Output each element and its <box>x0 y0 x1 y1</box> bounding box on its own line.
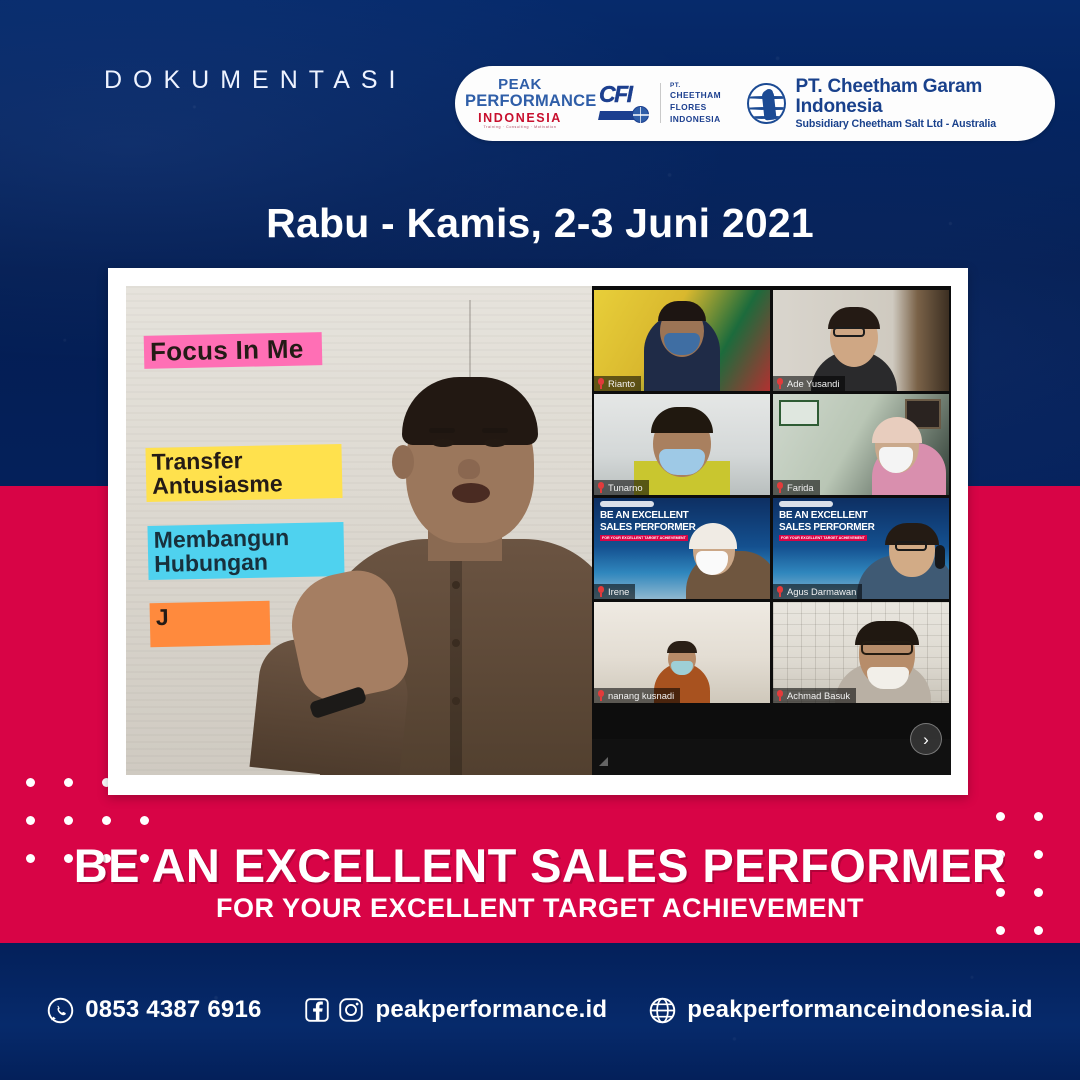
footer-website: peakperformanceindonesia.id <box>687 996 1033 1024</box>
poster-canvas: DOKUMENTASI PEAK PERFORMANCE INDONESIA T… <box>0 0 1080 1080</box>
participant-name: Tunarno <box>608 482 643 493</box>
sub-headline: FOR YOUR EXCELLENT TARGET ACHIEVEMENT <box>0 893 1080 924</box>
logo-bar: PEAK PERFORMANCE INDONESIA Training · Co… <box>455 66 1055 141</box>
muted-mic-icon <box>776 378 784 389</box>
zoom-meeting-screenshot: Focus In Me Transfer Antusiasme Membangu… <box>126 286 951 775</box>
footer-website-item[interactable]: peakperformanceindonesia.id <box>649 996 1033 1024</box>
cfi-logo: CFI PT. CHEETHAM FLORES INDONESIA <box>599 81 721 126</box>
cheetham-text-block: PT. Cheetham Garam Indonesia Subsidiary … <box>796 77 1055 130</box>
peak-logo-line2: PERFORMANCE <box>465 93 575 110</box>
slide-overlay-line3: FOR YOUR EXCELLENT TARGET ACHIEVEMENT <box>779 535 867 541</box>
decorative-dot <box>140 816 149 825</box>
participant-hair <box>667 641 697 653</box>
decorative-dot <box>26 778 35 787</box>
shirt-button <box>452 639 460 647</box>
sticky-note-orange: J <box>150 601 271 648</box>
cfi-mark-icon: CFI <box>599 82 651 124</box>
footer-social-handle: peakperformance.id <box>376 996 608 1024</box>
participant-name: Irene <box>608 586 629 597</box>
participant-name-badge: Agus Darmawan <box>773 584 862 599</box>
slide-overlay-line2: SALES PERFORMER <box>600 523 696 533</box>
participant-tile[interactable]: Farida <box>773 394 949 495</box>
speaker-nose <box>458 459 480 479</box>
decorative-dot <box>996 812 1005 821</box>
participant-tile[interactable]: Achmad Basuk <box>773 602 949 703</box>
speaker-eyebrow-left <box>429 428 455 433</box>
participant-name-badge: nanang kusnadi <box>594 688 680 703</box>
participant-tile[interactable]: Tunarno <box>594 394 770 495</box>
sticky-note-pink: Focus In Me <box>144 332 323 369</box>
speaker-hair <box>402 377 538 445</box>
photo-frame: Focus In Me Transfer Antusiasme Membangu… <box>108 268 968 795</box>
decorative-dot <box>1034 812 1043 821</box>
grid-bottom-filler <box>592 739 951 775</box>
decorative-dot <box>996 926 1005 935</box>
participant-glasses <box>861 641 913 655</box>
slide-overlay-line2: SALES PERFORMER <box>779 523 875 533</box>
shirt-button <box>452 697 460 705</box>
seahorse-head <box>765 89 773 97</box>
muted-mic-icon <box>776 482 784 493</box>
participant-name-badge: Achmad Basuk <box>773 688 856 703</box>
next-page-button[interactable]: › <box>910 723 942 755</box>
participant-grid: Rianto Ade Yusandi <box>592 286 951 775</box>
cfi-globe-icon <box>632 106 649 123</box>
peak-logo-line3: INDONESIA <box>465 112 575 125</box>
participant-hair <box>658 301 706 321</box>
participant-name: Farida <box>787 482 814 493</box>
decorative-dot <box>26 816 35 825</box>
muted-mic-icon <box>597 690 605 701</box>
decorative-dot <box>1034 926 1043 935</box>
participant-name: Ade Yusandi <box>787 378 839 389</box>
footer-phone-item[interactable]: 0853 4387 6916 <box>47 996 261 1024</box>
participant-name: Rianto <box>608 378 635 389</box>
participant-headset <box>935 545 945 569</box>
event-date: Rabu - Kamis, 2-3 Juni 2021 <box>0 200 1080 247</box>
participant-tile[interactable]: nanang kusnadi <box>594 602 770 703</box>
participant-hair <box>828 307 880 329</box>
participant-tile[interactable]: BE AN EXCELLENT SALES PERFORMER FOR YOUR… <box>773 498 949 599</box>
wall-poster <box>779 400 819 426</box>
speaker-ear <box>392 445 414 479</box>
slide-overlay-line1: BE AN EXCELLENT <box>600 511 688 521</box>
logo-divider <box>660 83 661 123</box>
cfi-word-0: PT. <box>670 81 721 90</box>
participant-name-badge: Farida <box>773 480 820 495</box>
participant-name-badge: Rianto <box>594 376 641 391</box>
globe-icon <box>649 997 676 1024</box>
speaker-figure <box>302 345 592 775</box>
speaker-eye-left <box>432 439 454 447</box>
cfi-word-2: FLORES <box>670 102 721 114</box>
slide-overlay-line3: FOR YOUR EXCELLENT TARGET ACHIEVEMENT <box>600 535 688 541</box>
main-headline: BE AN EXCELLENT SALES PERFORMER <box>0 838 1080 893</box>
shirt-button <box>452 581 460 589</box>
cfi-company-words: PT. CHEETHAM FLORES INDONESIA <box>670 81 721 126</box>
cfi-word-3: INDONESIA <box>670 114 721 126</box>
participant-name: Achmad Basuk <box>787 690 850 701</box>
footer-social-icons <box>304 997 365 1024</box>
whatsapp-icon <box>47 997 74 1024</box>
speaker-mouth <box>452 483 490 503</box>
cheetham-subtitle: Subsidiary Cheetham Salt Ltd - Australia <box>796 118 1055 130</box>
footer-contact-bar: 0853 4387 6916 peakperfo <box>0 985 1080 1035</box>
instagram-icon[interactable] <box>338 997 365 1024</box>
participant-tile[interactable]: BE AN EXCELLENT SALES PERFORMER FOR YOUR… <box>594 498 770 599</box>
participant-hijab <box>689 523 737 549</box>
participant-tile[interactable]: Rianto <box>594 290 770 391</box>
cheetham-garam-logo: PT. Cheetham Garam Indonesia Subsidiary … <box>747 77 1055 130</box>
muted-mic-icon <box>597 586 605 597</box>
facebook-icon[interactable] <box>304 997 331 1024</box>
participant-hair <box>651 407 713 433</box>
decorative-dot <box>64 816 73 825</box>
participant-name: Agus Darmawan <box>787 586 856 597</box>
participant-name: nanang kusnadi <box>608 690 674 701</box>
peak-logo-line1: PEAK <box>465 77 575 92</box>
decorative-dot <box>64 778 73 787</box>
participant-name-badge: Ade Yusandi <box>773 376 845 391</box>
footer-phone-number: 0853 4387 6916 <box>85 996 261 1024</box>
speaker-eyebrow-right <box>482 428 508 433</box>
participant-glasses <box>895 541 927 551</box>
cfi-wordmark: CFI <box>599 81 651 108</box>
muted-mic-icon <box>597 378 605 389</box>
slide-status-bar <box>779 501 833 507</box>
peak-logo-tagline: Training · Consulting · Motivation <box>465 126 575 130</box>
speaker-eye-right <box>484 439 506 447</box>
participant-glasses <box>833 327 865 337</box>
eyebrow-label: DOKUMENTASI <box>104 66 407 95</box>
muted-mic-icon <box>776 690 784 701</box>
peak-performance-logo: PEAK PERFORMANCE INDONESIA Training · Co… <box>455 77 575 130</box>
participant-name-badge: Irene <box>594 584 635 599</box>
participant-row: Rianto Ade Yusandi <box>593 290 950 391</box>
participant-row: Tunarno Farida <box>593 394 950 495</box>
slide-status-bar <box>600 501 654 507</box>
muted-mic-icon <box>597 482 605 493</box>
footer-social-item[interactable]: peakperformance.id <box>304 996 608 1024</box>
participant-row: BE AN EXCELLENT SALES PERFORMER FOR YOUR… <box>593 498 950 599</box>
cfi-word-1: CHEETHAM <box>670 90 721 102</box>
muted-mic-icon <box>776 586 784 597</box>
screen-share-indicator-icon <box>598 755 610 767</box>
speaker-video-pane: Focus In Me Transfer Antusiasme Membangu… <box>126 286 592 775</box>
cheetham-title: PT. Cheetham Garam Indonesia <box>796 77 1055 117</box>
participant-row: nanang kusnadi Achmad Basuk <box>593 602 950 703</box>
decorative-dot <box>102 816 111 825</box>
slide-overlay-line1: BE AN EXCELLENT <box>779 511 867 521</box>
participant-name-badge: Tunarno <box>594 480 649 495</box>
cheetham-seahorse-icon <box>747 83 785 124</box>
participant-tile[interactable]: Ade Yusandi <box>773 290 949 391</box>
